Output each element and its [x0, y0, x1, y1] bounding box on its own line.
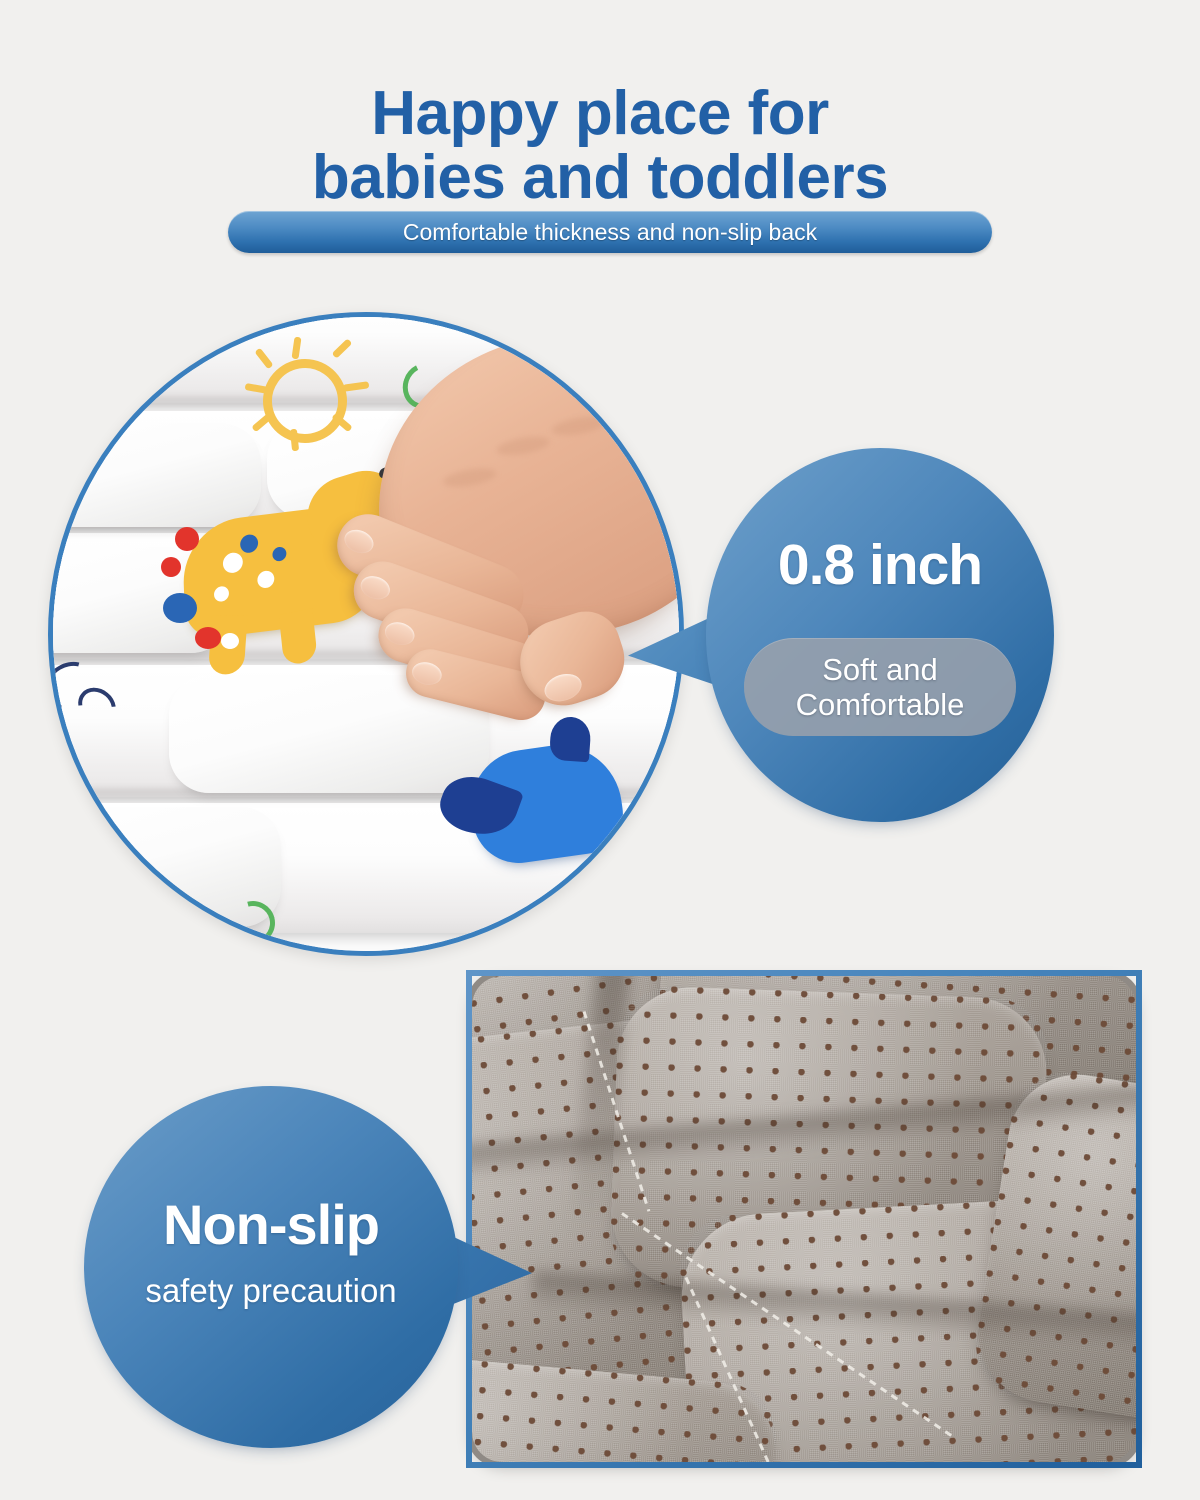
hand-pressing [266, 315, 681, 824]
infographic-canvas: Happy place for babies and toddlers Comf… [0, 0, 1200, 1500]
nonslip-callout: Non-slip safety precaution [84, 1086, 458, 1448]
thickness-value: 0.8 inch [706, 536, 1054, 594]
mattress-top-photo-scene [51, 315, 681, 953]
thickness-badge: Soft and Comfortable [744, 638, 1016, 736]
headline-line-1: Happy place for [371, 79, 829, 148]
mattress-top-photo [48, 312, 684, 956]
subtitle-banner: Comfortable thickness and non-slip back [228, 211, 992, 253]
thickness-badge-line-1: Soft and [822, 652, 937, 687]
headline-line-2: babies and toddlers [0, 146, 1200, 210]
page-title: Happy place for babies and toddlers [0, 82, 1200, 210]
thickness-badge-text: Soft and Comfortable [796, 652, 965, 722]
thickness-badge-line-2: Comfortable [796, 687, 965, 722]
callout-body [706, 448, 1054, 822]
subtitle-banner-label: Comfortable thickness and non-slip back [403, 221, 817, 244]
nonslip-bottom-photo [466, 970, 1142, 1468]
callout-body [84, 1086, 458, 1448]
nonslip-title: Non-slip [84, 1196, 458, 1254]
thickness-callout: 0.8 inch Soft and Comfortable [706, 448, 1054, 822]
nonslip-bottom-photo-scene [472, 976, 1136, 1462]
nonslip-subtitle: safety precaution [84, 1272, 458, 1310]
